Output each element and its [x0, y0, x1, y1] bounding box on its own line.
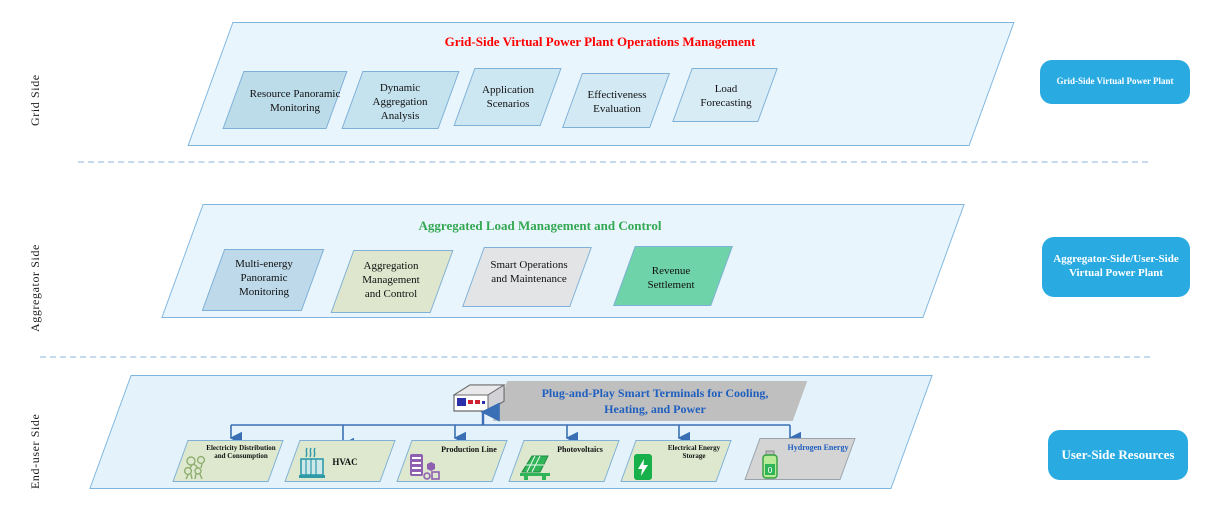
- badge-aggregator-user-vpp-label: Aggregator-Side/User-SideVirtual Power P…: [1053, 253, 1178, 281]
- diagram-canvas: Grid Side Aggregator Side End-user Side …: [0, 0, 1225, 530]
- energy-storage-icon: [630, 452, 656, 482]
- svg-text:0: 0: [767, 466, 772, 475]
- production-line-icon: [406, 452, 442, 482]
- badge-user-side-resources[interactable]: User-Side Resources: [1048, 430, 1188, 480]
- electricity-distribution-icon: [182, 455, 216, 481]
- photovoltaics-icon: [518, 452, 554, 480]
- badge-user-side-resources-label: User-Side Resources: [1061, 447, 1174, 463]
- resource-label-hydrogen-energy: Hydrogen Energy: [770, 443, 866, 453]
- resource-label-hvac: HVAC: [320, 457, 370, 468]
- badge-aggregator-user-vpp[interactable]: Aggregator-Side/User-SideVirtual Power P…: [1042, 237, 1190, 297]
- badge-grid-side-vpp-label: Grid-Side Virtual Power Plant: [1056, 76, 1173, 87]
- hydrogen-energy-icon: 0: [758, 450, 782, 480]
- resource-label-electrical-energy-storage: Electrical EnergyStorage: [646, 444, 742, 461]
- badge-grid-side-vpp[interactable]: Grid-Side Virtual Power Plant: [1040, 60, 1190, 104]
- hvac-icon: [296, 447, 326, 479]
